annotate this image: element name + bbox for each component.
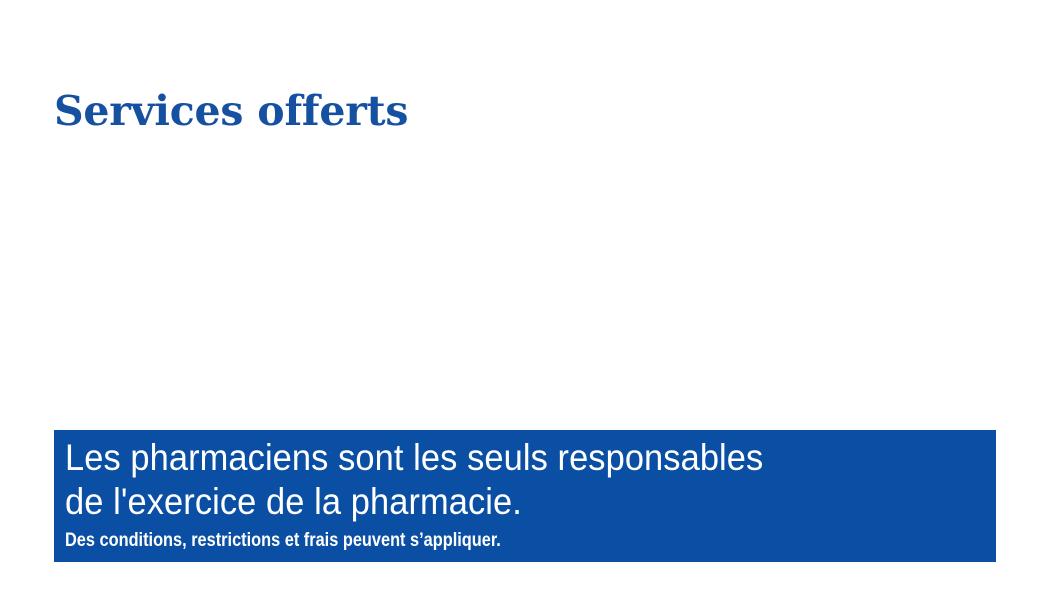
page-title: Services offerts <box>54 89 408 135</box>
callout-subtext: Des conditions, restrictions et frais pe… <box>65 529 854 553</box>
slide-content-area <box>54 135 996 425</box>
callout-headline: Les pharmaciens sont les seuls responsab… <box>65 436 918 524</box>
callout-headline-line-2: de l'exercice de la pharmacie. <box>65 480 918 524</box>
callout-headline-line-1: Les pharmaciens sont les seuls responsab… <box>65 436 918 480</box>
callout-banner: Les pharmaciens sont les seuls responsab… <box>54 430 996 562</box>
slide-canvas: Services offerts Les pharmaciens sont le… <box>0 0 1050 600</box>
